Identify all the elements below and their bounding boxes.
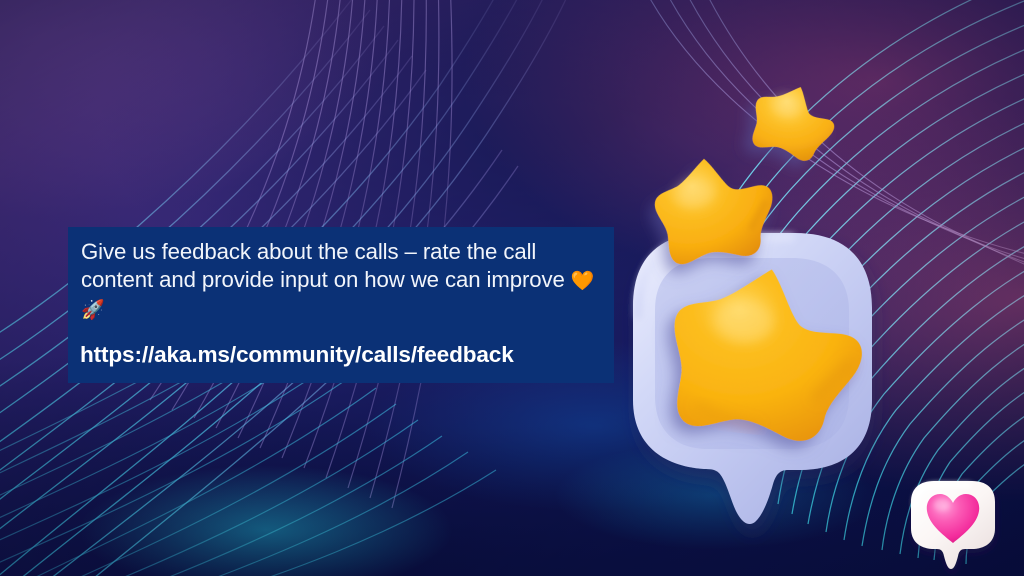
feedback-body-text: Give us feedback about the calls – rate … (81, 238, 598, 325)
slide-canvas: Give us feedback about the calls – rate … (0, 0, 1024, 576)
rocket-emoji: 🚀 (81, 300, 106, 321)
feedback-url-link[interactable]: https://aka.ms/community/calls/feedback (80, 341, 514, 369)
orange-heart-emoji: 🧡 (571, 271, 596, 292)
feedback-body-copy: Give us feedback about the calls – rate … (81, 239, 571, 292)
